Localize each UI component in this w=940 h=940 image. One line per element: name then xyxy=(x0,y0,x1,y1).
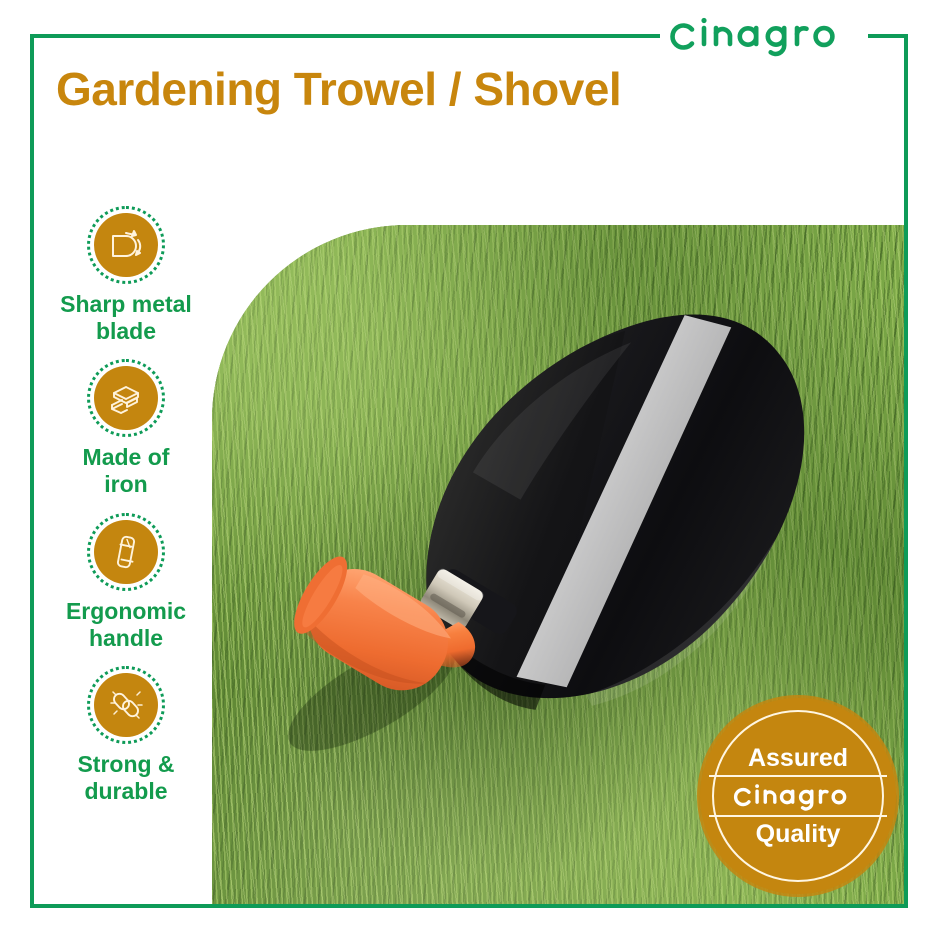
feature-item-strong-durable: Strong & durable xyxy=(40,666,212,805)
handle-grip-icon xyxy=(94,520,158,584)
badge-assured-label: Assured xyxy=(748,745,848,771)
chain-link-icon xyxy=(94,673,158,737)
feature-label-line2: iron xyxy=(40,471,212,498)
badge-brand-logo: cinagro xyxy=(723,781,873,811)
product-photo: Assured xyxy=(212,225,904,904)
feature-item-ergonomic-handle: Ergonomic handle xyxy=(40,513,212,652)
frame-border-right xyxy=(904,34,908,908)
feature-label-line2: blade xyxy=(40,318,212,345)
badge-divider-bottom xyxy=(709,815,887,817)
brand-logo: cinagro xyxy=(664,12,864,58)
badge-quality-label: Quality xyxy=(756,821,841,847)
feature-label-line1: Ergonomic xyxy=(40,598,212,625)
feature-label-line1: Made of xyxy=(40,444,212,471)
frame-border-top-left xyxy=(30,34,660,38)
frame-border-left xyxy=(30,34,34,908)
page-title: Gardening Trowel / Shovel xyxy=(56,64,816,115)
feature-list: Sharp metal blade xyxy=(40,206,212,819)
iron-beam-icon xyxy=(94,366,158,430)
feature-label-line2: durable xyxy=(40,778,212,805)
sharp-blade-icon xyxy=(94,213,158,277)
assured-quality-badge: Assured xyxy=(700,698,896,894)
feature-label-line1: Strong & xyxy=(40,751,212,778)
feature-label-line1: Sharp metal xyxy=(40,291,212,318)
badge-divider-top xyxy=(709,775,887,777)
frame-border-bottom xyxy=(30,904,908,908)
feature-item-sharp-metal-blade: Sharp metal blade xyxy=(40,206,212,345)
feature-item-made-of-iron: Made of iron xyxy=(40,359,212,498)
feature-label-line2: handle xyxy=(40,625,212,652)
frame-border-top-right xyxy=(868,34,908,38)
product-infographic: cinagro Gardening Trowel / Shovel xyxy=(0,0,940,940)
